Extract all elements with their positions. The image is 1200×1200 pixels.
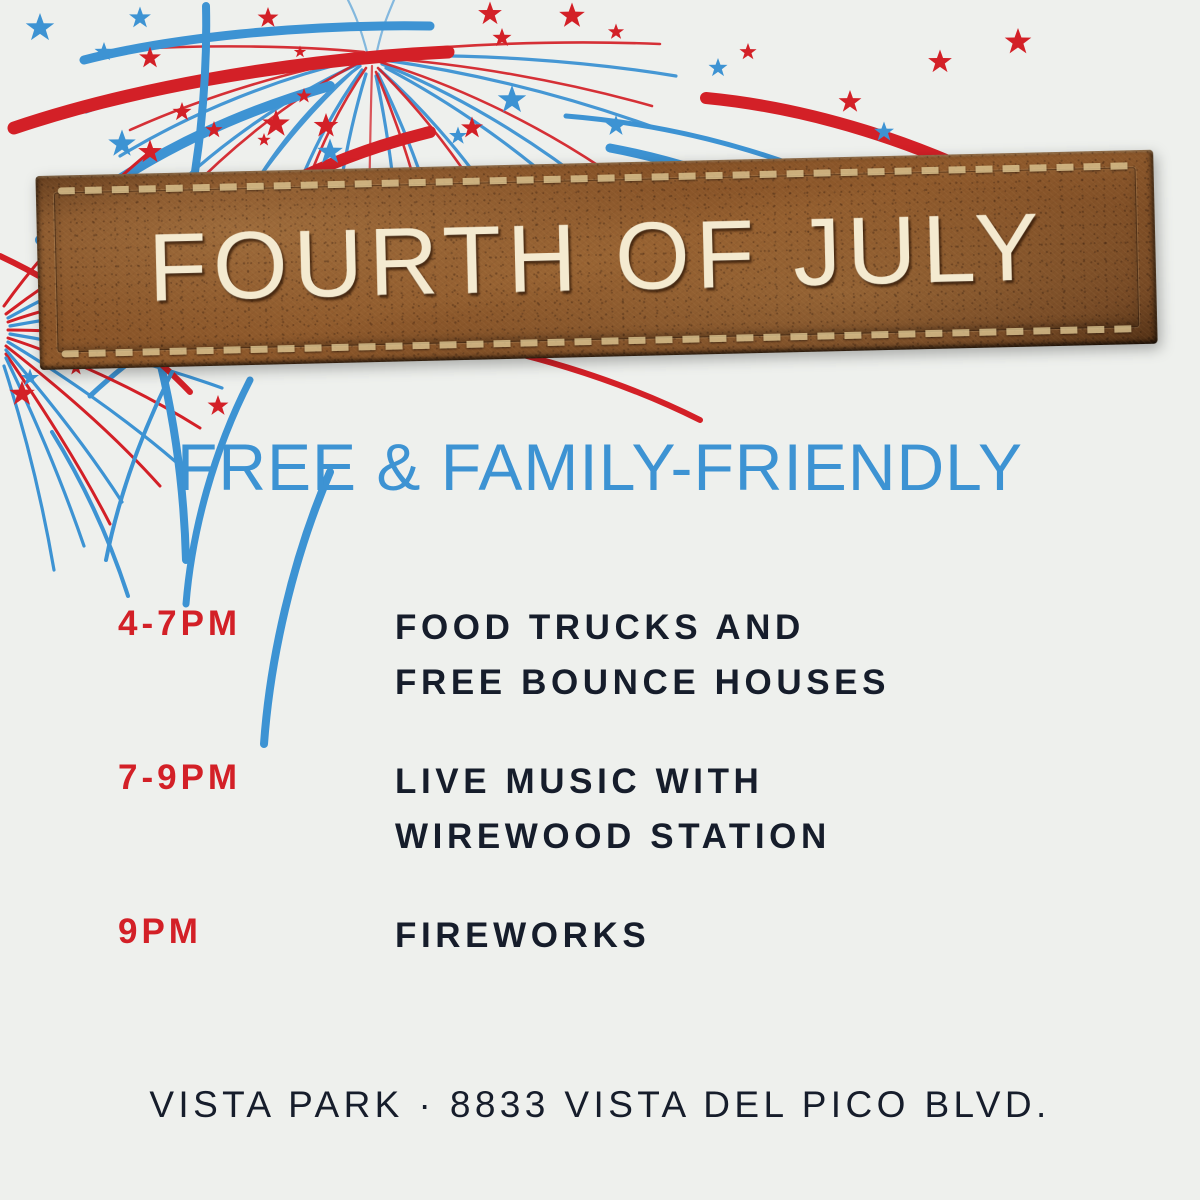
schedule-row: 4-7PM FOOD TRUCKS AND FREE BOUNCE HOUSES xyxy=(118,600,1118,710)
fourth-of-july-banner: FOURTH OF JULY xyxy=(35,150,1157,370)
schedule-time: 9PM xyxy=(118,908,395,955)
subtitle-free-family-friendly: FREE & FAMILY-FRIENDLY xyxy=(0,434,1200,500)
schedule-description-line: WIREWOOD STATION xyxy=(395,809,1118,864)
footer-address-text: VISTA PARK · 8833 VISTA DEL PICO BLVD. xyxy=(0,1086,1200,1123)
schedule-description-line: LIVE MUSIC WITH xyxy=(395,754,1118,809)
schedule-description: FIREWORKS xyxy=(395,908,1118,963)
banner-title-text: FOURTH OF JULY xyxy=(35,150,1157,370)
schedule-description-line: FOOD TRUCKS AND xyxy=(395,600,1118,655)
poster-canvas: FOURTH OF JULY FREE & FAMILY-FRIENDLY 4-… xyxy=(0,0,1200,1200)
schedule-description-line: FIREWORKS xyxy=(395,908,1118,963)
schedule-description: FOOD TRUCKS AND FREE BOUNCE HOUSES xyxy=(395,600,1118,710)
schedule-description-line: FREE BOUNCE HOUSES xyxy=(395,655,1118,710)
schedule-time: 7-9PM xyxy=(118,754,395,801)
schedule-row: 7-9PM LIVE MUSIC WITH WIREWOOD STATION xyxy=(118,754,1118,864)
event-schedule: 4-7PM FOOD TRUCKS AND FREE BOUNCE HOUSES… xyxy=(118,600,1118,963)
schedule-time: 4-7PM xyxy=(118,600,395,647)
schedule-description: LIVE MUSIC WITH WIREWOOD STATION xyxy=(395,754,1118,864)
schedule-row: 9PM FIREWORKS xyxy=(118,908,1118,963)
